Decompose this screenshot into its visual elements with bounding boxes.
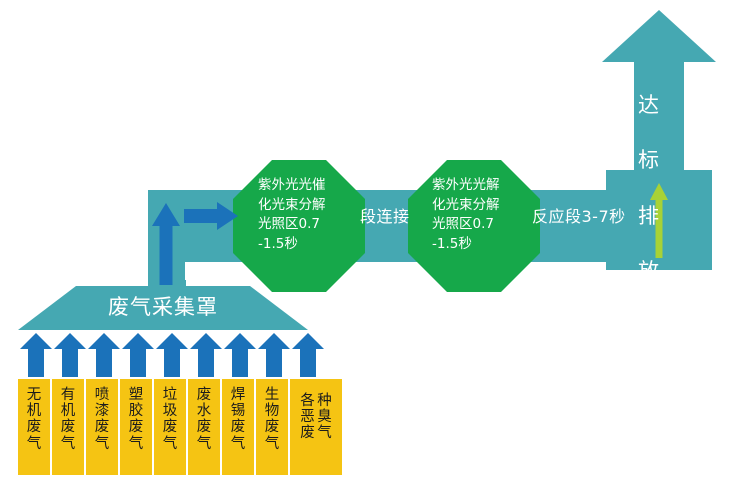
flow-diagram-svg xyxy=(0,0,741,483)
collection-hood xyxy=(18,286,308,330)
diagram-canvas: 紫外光光催 化光束分解 光照区0.7 -1.5秒 紫外光光解 化光束分解 光照区… xyxy=(0,0,741,483)
exhaust-arrow-head xyxy=(602,10,716,80)
reactor-2-shape xyxy=(408,160,540,292)
source-intake-arrows xyxy=(20,333,324,377)
reactor-1-shape xyxy=(233,160,365,292)
source-boxes xyxy=(18,379,342,475)
